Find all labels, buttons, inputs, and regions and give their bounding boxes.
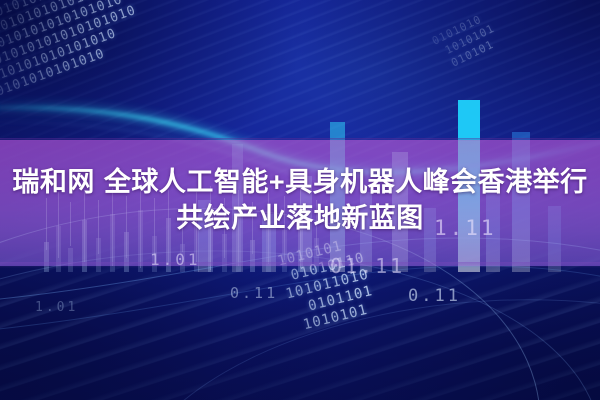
headline-line-1-text: 全球人工智能+具身机器人峰会香港举行 — [104, 167, 588, 197]
headline-line-2: 共绘产业落地新蓝图 — [0, 200, 600, 236]
band-bottom-edge — [0, 262, 600, 268]
headline-line-1: 瑞和网全球人工智能+具身机器人峰会香港举行 — [0, 164, 600, 200]
decimal-label-4: 1.01 — [150, 250, 201, 269]
decimal-label-2: 01.11 — [330, 254, 405, 278]
decimal-label-6: 1.01 — [35, 300, 78, 315]
banner-headline: 瑞和网全球人工智能+具身机器人峰会香港举行 共绘产业落地新蓝图 — [0, 164, 600, 236]
decimal-label-3: 0.11 — [408, 286, 461, 306]
decimal-label-5: 0.11 — [230, 284, 278, 302]
promo-banner: 010101010101010101 1010101010101010101 1… — [0, 0, 600, 400]
brand-name: 瑞和网 — [12, 167, 95, 197]
